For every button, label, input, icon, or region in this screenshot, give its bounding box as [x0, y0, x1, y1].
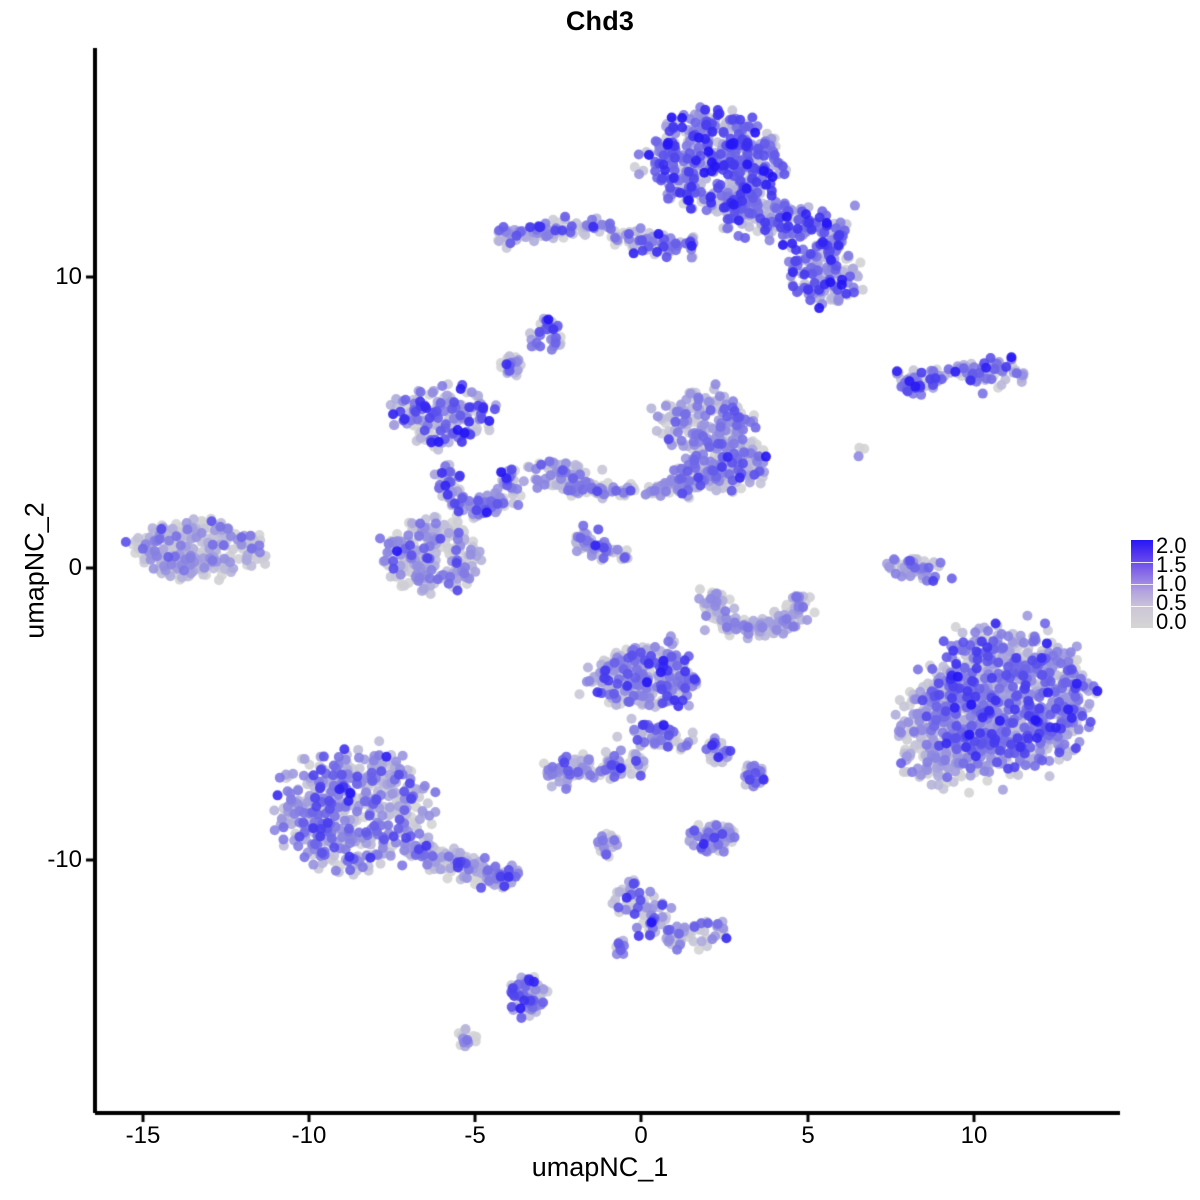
scatter-plot-canvas [0, 0, 1200, 1200]
y-tick-label: 10 [55, 263, 82, 291]
legend-tick-mark [1131, 562, 1153, 563]
x-tick-label: -5 [464, 1122, 485, 1150]
legend-tick-mark [1131, 628, 1153, 629]
legend-tick-label: 0.0 [1156, 609, 1187, 635]
x-tick-label: 5 [801, 1122, 814, 1150]
y-tick-label: 0 [69, 554, 82, 582]
x-tick-label: -15 [126, 1122, 161, 1150]
legend-tick-mark [1131, 606, 1153, 607]
y-axis-label: umapNC_2 [20, 441, 51, 701]
umap-feature-plot: Chd3 -15-10-50510 100-10 umapNC_1 umapNC… [0, 0, 1200, 1200]
y-tick-label: -10 [47, 846, 82, 874]
x-tick-label: 0 [634, 1122, 647, 1150]
legend-tick-mark [1131, 584, 1153, 585]
x-axis-label: umapNC_1 [0, 1152, 1200, 1183]
x-tick-label: -10 [292, 1122, 327, 1150]
x-tick-label: 10 [961, 1122, 988, 1150]
